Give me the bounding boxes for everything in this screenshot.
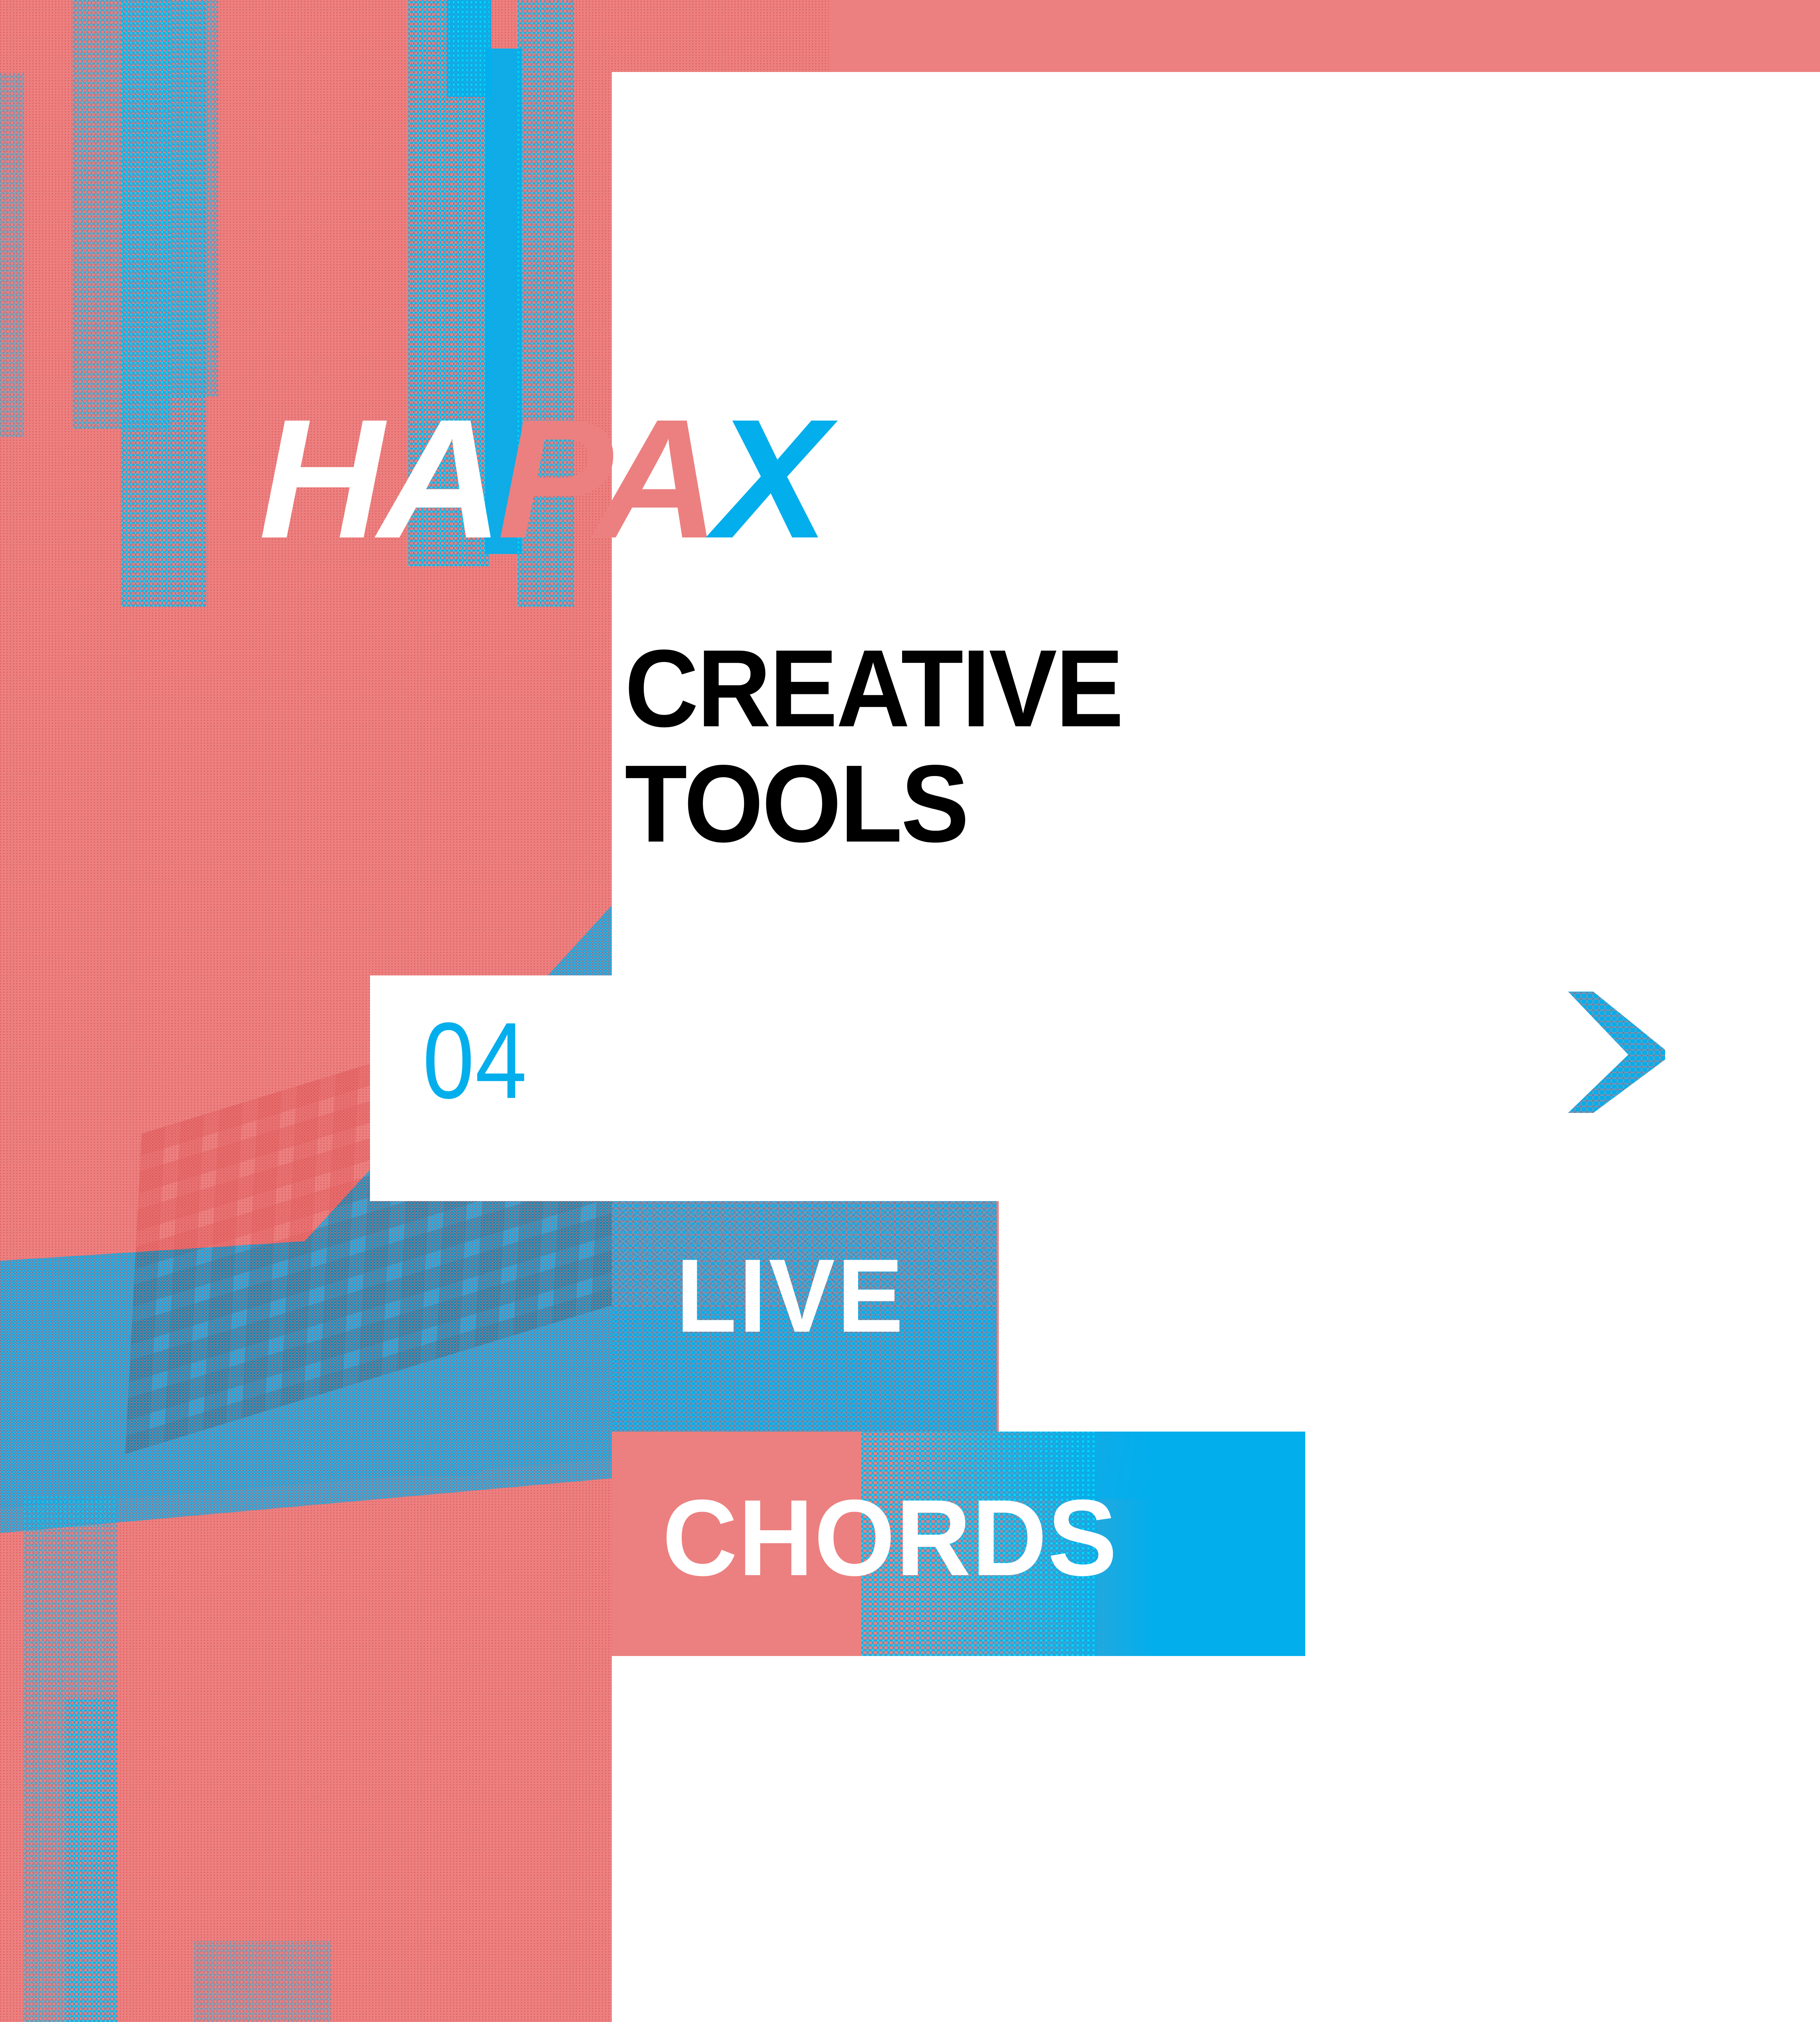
wordmark-part-ha: HA bbox=[259, 394, 497, 564]
subtitle-line-1: CREATIVE bbox=[625, 627, 1122, 750]
feature-title-live: LIVE bbox=[676, 1244, 906, 1348]
dither-streak bbox=[0, 73, 24, 437]
subtitle: CREATIVE TOOLS bbox=[625, 631, 1122, 861]
wordmark-part-pa: PA bbox=[497, 394, 714, 564]
chapter-number: 04 bbox=[423, 1006, 528, 1115]
dither-streak bbox=[194, 1941, 332, 2022]
wordmark-part-x: X bbox=[714, 394, 823, 564]
feature-title-chords: CHORDS bbox=[662, 1483, 1118, 1592]
dither-streak bbox=[170, 0, 218, 396]
brand-wordmark: HAPAX bbox=[259, 394, 1249, 564]
panel-bottom-white bbox=[612, 1656, 1820, 2022]
subtitle-line-2: TOOLS bbox=[625, 742, 968, 865]
panel-right-lower-white bbox=[1305, 1432, 1820, 1656]
dither-streak bbox=[65, 1698, 117, 2022]
chevron-right-icon[interactable] bbox=[1568, 992, 1665, 1113]
panel-right-upper-white bbox=[999, 975, 1820, 1432]
chevron-dither-overlay bbox=[1568, 992, 1665, 1113]
poster-page: HAPAX CREATIVE TOOLS 04 LIVE CHORDS bbox=[0, 0, 1820, 2022]
